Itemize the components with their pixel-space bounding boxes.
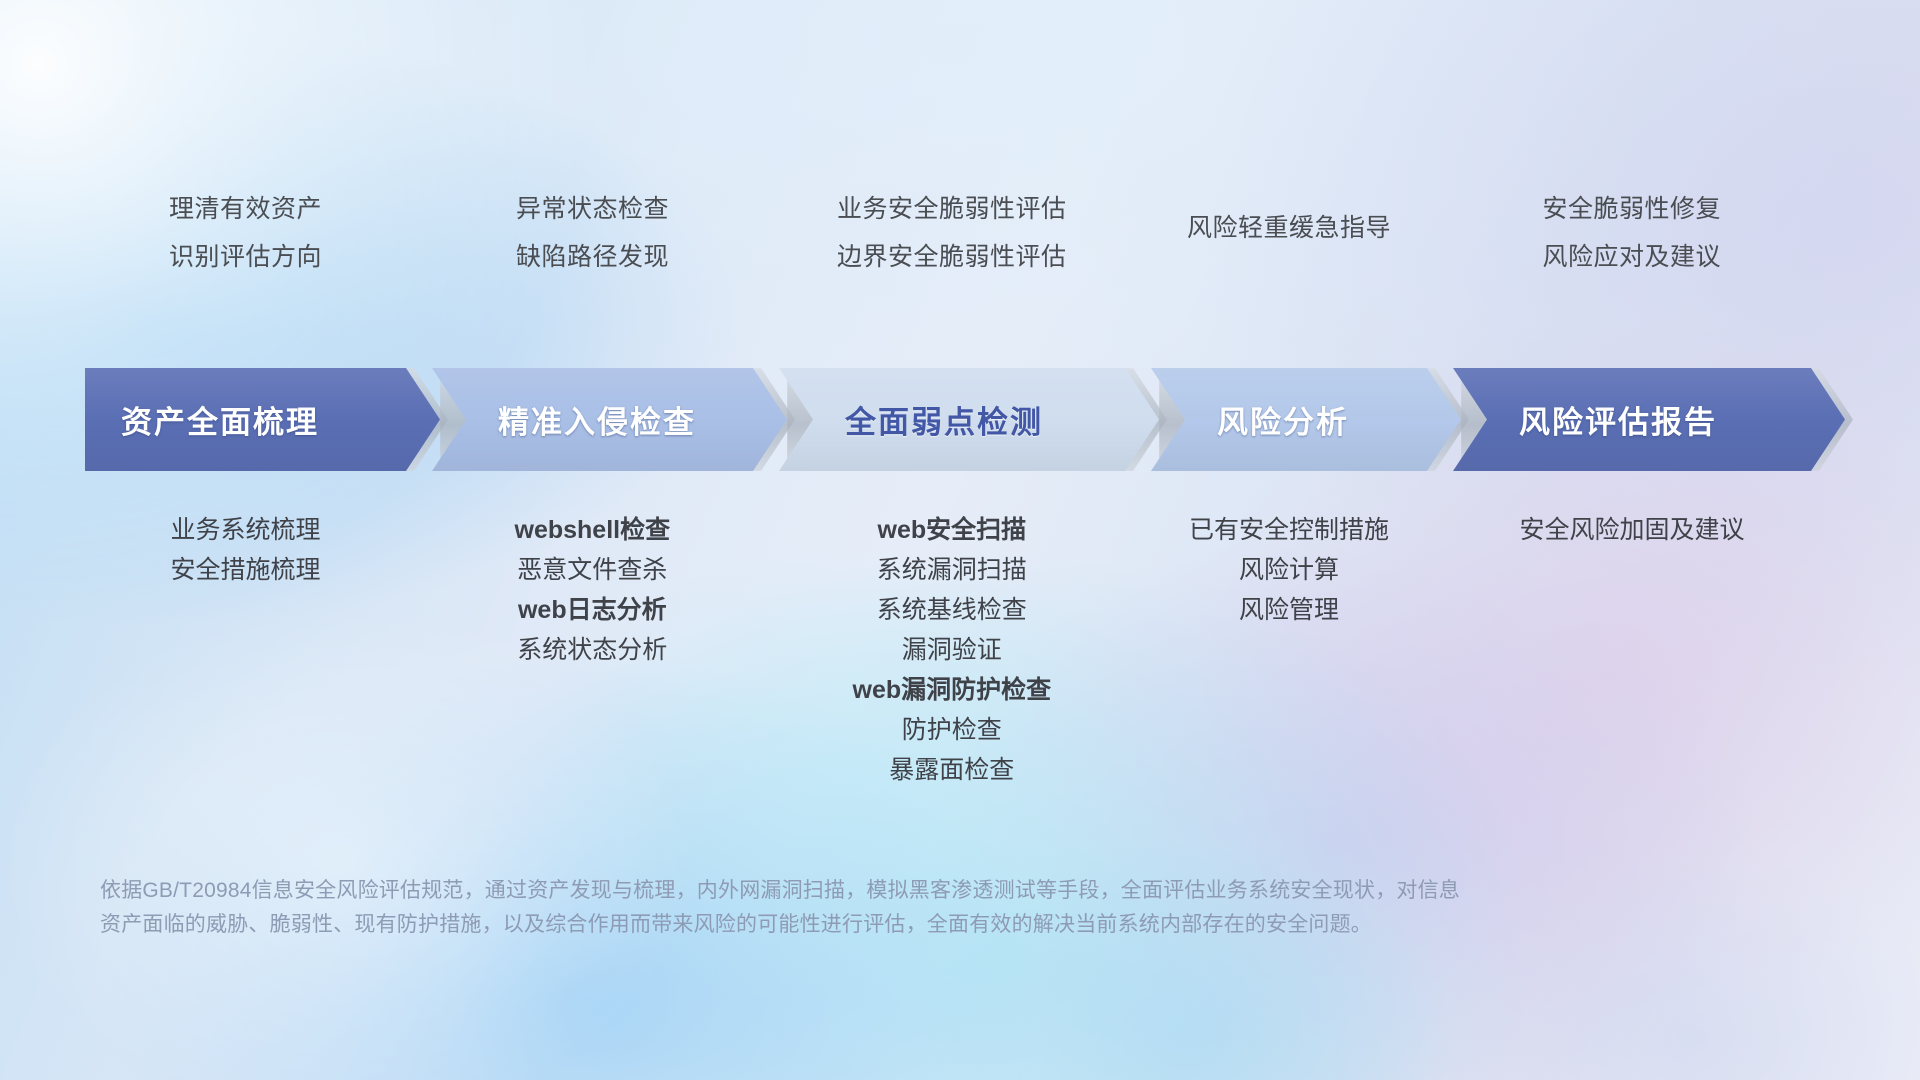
top-labels-asset-inventory: 理清有效资产识别评估方向 [169,185,322,281]
top-labels-risk-report: 安全脆弱性修复风险应对及建议 [1543,185,1722,281]
top-label-weakness-detection-0: 业务安全脆弱性评估 [837,185,1067,233]
bottom-label-intrusion-check-1: 恶意文件查杀 [515,550,671,590]
top-label-intrusion-check-0: 异常状态检查 [516,185,669,233]
bottom-labels-risk-report: 安全风险加固及建议 [1520,510,1745,550]
bottom-label-weakness-detection-4: web漏洞防护检查 [853,670,1052,710]
bottom-label-risk-analysis-0: 已有安全控制措施 [1189,510,1389,550]
bottom-labels-weakness-detection: web安全扫描系统漏洞扫描系统基线检查漏洞验证web漏洞防护检查防护检查暴露面检… [853,510,1052,790]
stage-chevron-risk-report[interactable]: 风险评估报告 [1453,368,1845,471]
bottom-label-weakness-detection-0: web安全扫描 [853,510,1052,550]
top-label-risk-analysis-0: 风险轻重缓急指导 [1187,204,1391,252]
bottom-label-weakness-detection-2: 系统基线检查 [853,590,1052,630]
stage-title-weakness-detection: 全面弱点检测 [845,397,1043,442]
footer-line-1: 依据GB/T20984信息安全风险评估规范，通过资产发现与梳理，内外网漏洞扫描，… [100,874,1620,908]
bottom-label-intrusion-check-2: web日志分析 [515,590,671,630]
bottom-label-weakness-detection-6: 暴露面检查 [853,750,1052,790]
bottom-label-risk-report-0: 安全风险加固及建议 [1520,510,1745,550]
bottom-label-asset-inventory-0: 业务系统梳理 [171,510,321,550]
bottom-label-weakness-detection-5: 防护检查 [853,710,1052,750]
top-label-weakness-detection-1: 边界安全脆弱性评估 [837,233,1067,281]
footer-line-2: 资产面临的威胁、脆弱性、现有防护措施，以及综合作用而带来风险的可能性进行评估，全… [100,908,1620,942]
bottom-labels-asset-inventory: 业务系统梳理安全措施梳理 [171,510,321,590]
stage-chevron-intrusion-check[interactable]: 精准入侵检查 [432,368,787,471]
process-flow-diagram: 资产全面梳理精准入侵检查全面弱点检测风险分析风险评估报告 依据GB/T20984… [0,0,1920,1080]
top-labels-risk-analysis: 风险轻重缓急指导 [1187,204,1391,252]
stage-chevron-asset-inventory[interactable]: 资产全面梳理 [85,368,440,471]
top-labels-weakness-detection: 业务安全脆弱性评估边界安全脆弱性评估 [837,185,1067,281]
stage-chevron-weakness-detection[interactable]: 全面弱点检测 [779,368,1159,471]
stage-title-intrusion-check: 精准入侵检查 [498,397,696,442]
top-label-risk-report-1: 风险应对及建议 [1543,233,1722,281]
bottom-label-asset-inventory-1: 安全措施梳理 [171,550,321,590]
stage-title-risk-analysis: 风险分析 [1217,397,1349,442]
bottom-labels-intrusion-check: webshell检查恶意文件查杀web日志分析系统状态分析 [515,510,671,670]
bottom-label-risk-analysis-1: 风险计算 [1189,550,1389,590]
bottom-label-intrusion-check-0: webshell检查 [515,510,671,550]
bottom-label-intrusion-check-3: 系统状态分析 [515,630,671,670]
footer-description: 依据GB/T20984信息安全风险评估规范，通过资产发现与梳理，内外网漏洞扫描，… [100,874,1620,942]
bottom-labels-risk-analysis: 已有安全控制措施风险计算风险管理 [1189,510,1389,630]
stage-chevron-band: 资产全面梳理精准入侵检查全面弱点检测风险分析风险评估报告 [85,368,1845,471]
bottom-label-weakness-detection-3: 漏洞验证 [853,630,1052,670]
top-labels-intrusion-check: 异常状态检查缺陷路径发现 [516,185,669,281]
stage-title-asset-inventory: 资产全面梳理 [121,397,319,442]
stage-title-risk-report: 风险评估报告 [1519,397,1717,442]
bottom-label-weakness-detection-1: 系统漏洞扫描 [853,550,1052,590]
top-label-asset-inventory-0: 理清有效资产 [169,185,322,233]
top-label-asset-inventory-1: 识别评估方向 [169,233,322,281]
bottom-label-risk-analysis-2: 风险管理 [1189,590,1389,630]
top-label-intrusion-check-1: 缺陷路径发现 [516,233,669,281]
stage-chevron-risk-analysis[interactable]: 风险分析 [1151,368,1461,471]
top-label-risk-report-0: 安全脆弱性修复 [1543,185,1722,233]
